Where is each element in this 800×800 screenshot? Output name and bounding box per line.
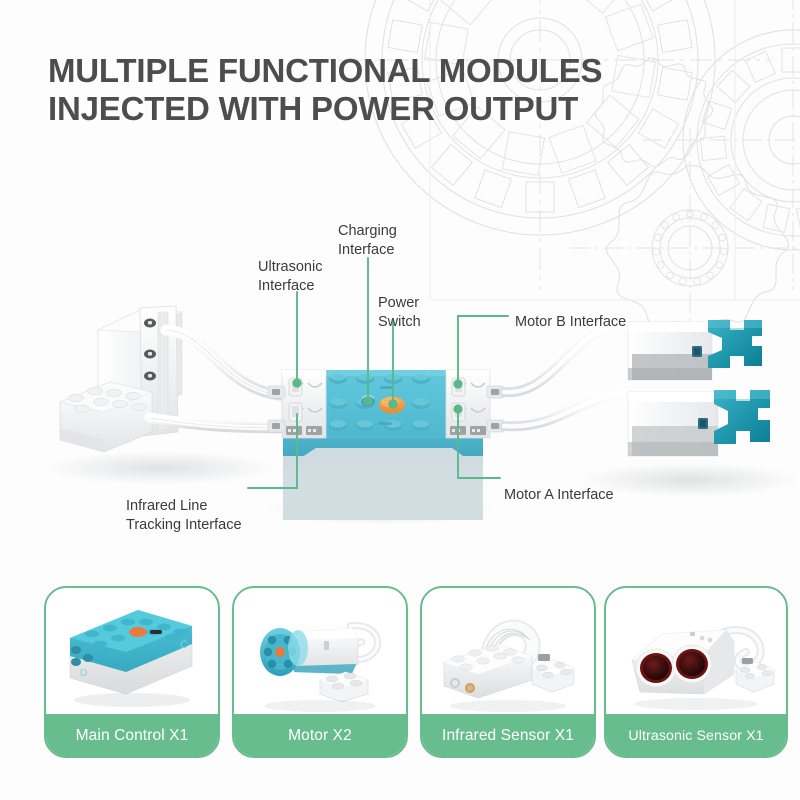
callout-power-switch: Power Switch bbox=[378, 294, 421, 332]
main-control-hub bbox=[268, 370, 504, 520]
main-control-art: C D bbox=[46, 588, 218, 720]
infrared-interface-port bbox=[289, 403, 302, 421]
product-card-label: Main Control X1 bbox=[44, 714, 220, 758]
right-port-block bbox=[446, 370, 504, 438]
white-brick bbox=[60, 382, 152, 452]
page-title-line-2: INJECTED WITH POWER OUTPUT bbox=[48, 90, 688, 128]
product-card-label: Infrared Sensor X1 bbox=[420, 714, 596, 758]
product-card-motor[interactable]: Motor X2 bbox=[232, 586, 408, 758]
cable-right-upper bbox=[504, 324, 630, 392]
product-card-label: Ultrasonic Sensor X1 bbox=[604, 714, 788, 758]
product-card-ultrasonic-sensor[interactable]: Ultrasonic Sensor X1 bbox=[604, 586, 788, 758]
product-card-infrared-sensor[interactable]: Infrared Sensor X1 bbox=[420, 586, 596, 758]
page-title-line-1: MULTIPLE FUNCTIONAL MODULES bbox=[48, 52, 688, 90]
motor-upper bbox=[628, 320, 762, 380]
page-title: MULTIPLE FUNCTIONAL MODULES INJECTED WIT… bbox=[48, 52, 688, 128]
svg-text:C: C bbox=[180, 639, 188, 651]
callout-motor-a-interface: Motor A Interface bbox=[504, 486, 614, 505]
cable-right-lower bbox=[504, 394, 632, 426]
callout-ultrasonic-interface: Ultrasonic Interface bbox=[258, 258, 322, 296]
callout-charging-interface: Charging Interface bbox=[338, 222, 397, 260]
callout-infrared-line-tracking: Infrared Line Tracking Interface bbox=[126, 497, 242, 535]
motor-lower bbox=[628, 390, 770, 456]
ultrasonic-sensor-art bbox=[606, 588, 786, 720]
shadow-left bbox=[45, 451, 275, 485]
product-card-label: Motor X2 bbox=[232, 714, 408, 758]
page-root: MULTIPLE FUNCTIONAL MODULES INJECTED WIT… bbox=[0, 0, 800, 800]
infrared-sensor-art bbox=[422, 588, 594, 720]
hardware-diagram bbox=[0, 180, 800, 570]
svg-text:D: D bbox=[80, 668, 87, 679]
product-card-list: C D Main Control X1 bbox=[0, 586, 800, 764]
motor-art bbox=[234, 588, 406, 720]
callout-motor-b-interface: Motor B Interface bbox=[515, 313, 626, 332]
product-card-main-control[interactable]: C D Main Control X1 bbox=[44, 586, 220, 758]
